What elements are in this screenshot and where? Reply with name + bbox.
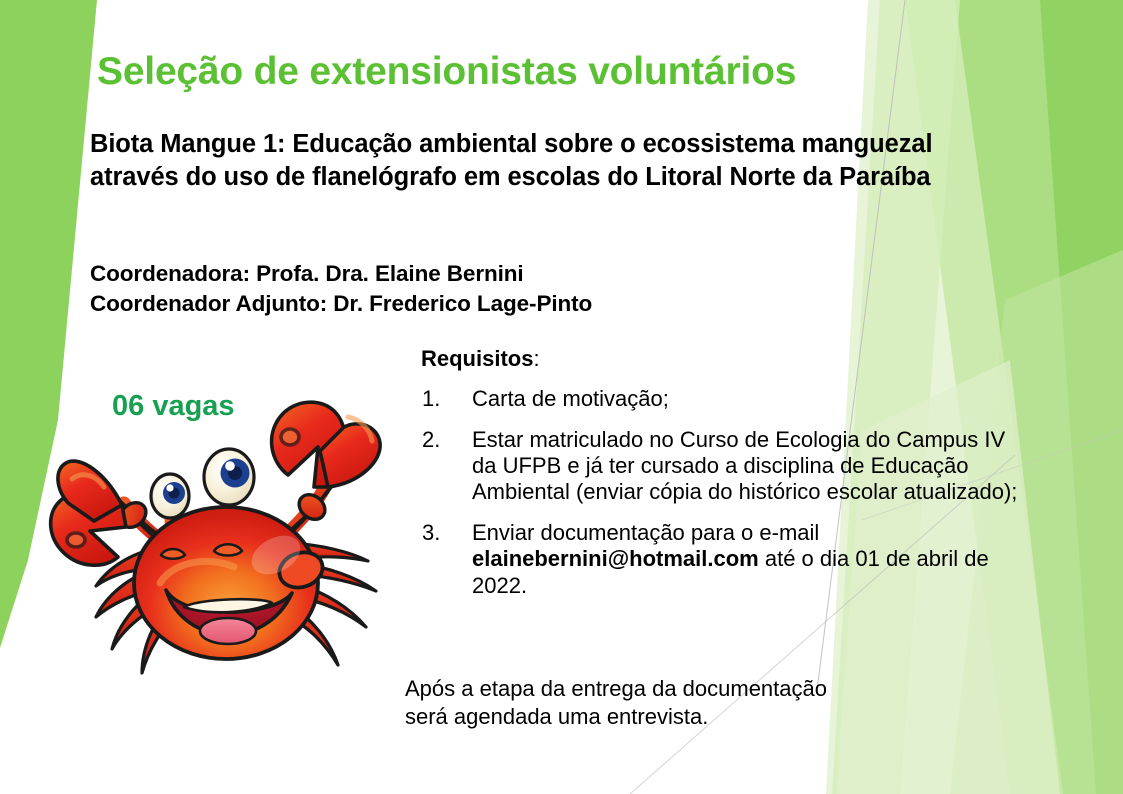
requirement-item-3: 3. Enviar documentação para o e-mail ela… [421, 520, 1021, 599]
crab-right-claw [272, 402, 381, 487]
contact-email[interactable]: elainebernini@hotmail.com [472, 546, 759, 571]
closing-note: Após a etapa da entrega da documentação … [405, 675, 827, 730]
project-title: Biota Mangue 1: Educação ambiental sobre… [90, 128, 1005, 195]
requirement-item-1: 1. Carta de motivação; [421, 386, 1021, 412]
requirement-text-1: Carta de motivação; [472, 386, 1021, 412]
right-green-band-solid [1040, 0, 1123, 794]
crab-eye-socket-left [161, 549, 185, 559]
closing-note-line-2: será agendada uma entrevista. [405, 703, 827, 731]
requirement-3-prefix: Enviar documentação para o e-mail [472, 520, 819, 545]
crab-illustration [38, 355, 418, 685]
requirement-item-2: 2. Estar matriculado no Curso de Ecologi… [421, 427, 1021, 506]
coordinator-adjunct-line: Coordenador Adjunto: Dr. Frederico Lage-… [90, 289, 592, 319]
requirement-number-2: 2. [422, 427, 440, 453]
requirement-number-1: 1. [422, 386, 440, 412]
crab-tongue [200, 618, 256, 644]
crab-left-claw [51, 461, 126, 565]
requirements-heading-label: Requisitos [421, 346, 533, 371]
requirements-section: Requisitos: 1. Carta de motivação; 2. Es… [421, 345, 1021, 599]
crab-eye-socket-right [214, 544, 242, 555]
requirement-number-3: 3. [422, 520, 440, 546]
coordinators-block: Coordenadora: Profa. Dra. Elaine Bernini… [90, 259, 592, 319]
page-title: Seleção de extensionistas voluntários [97, 50, 796, 94]
coordinator-line: Coordenadora: Profa. Dra. Elaine Bernini [90, 259, 592, 289]
slide-canvas: Seleção de extensionistas voluntários Bi… [0, 0, 1123, 794]
claw-highlight-left [67, 533, 85, 547]
closing-note-line-1: Após a etapa da entrega da documentação [405, 675, 827, 703]
claw-highlight-right [281, 429, 299, 445]
requirements-heading: Requisitos: [421, 345, 1021, 373]
requirements-list: 1. Carta de motivação; 2. Estar matricul… [421, 386, 1021, 599]
requirements-heading-colon: : [533, 346, 539, 371]
requirement-text-2: Estar matriculado no Curso de Ecologia d… [472, 427, 1021, 506]
requirement-text-3: Enviar documentação para o e-mail elaine… [472, 520, 1021, 599]
